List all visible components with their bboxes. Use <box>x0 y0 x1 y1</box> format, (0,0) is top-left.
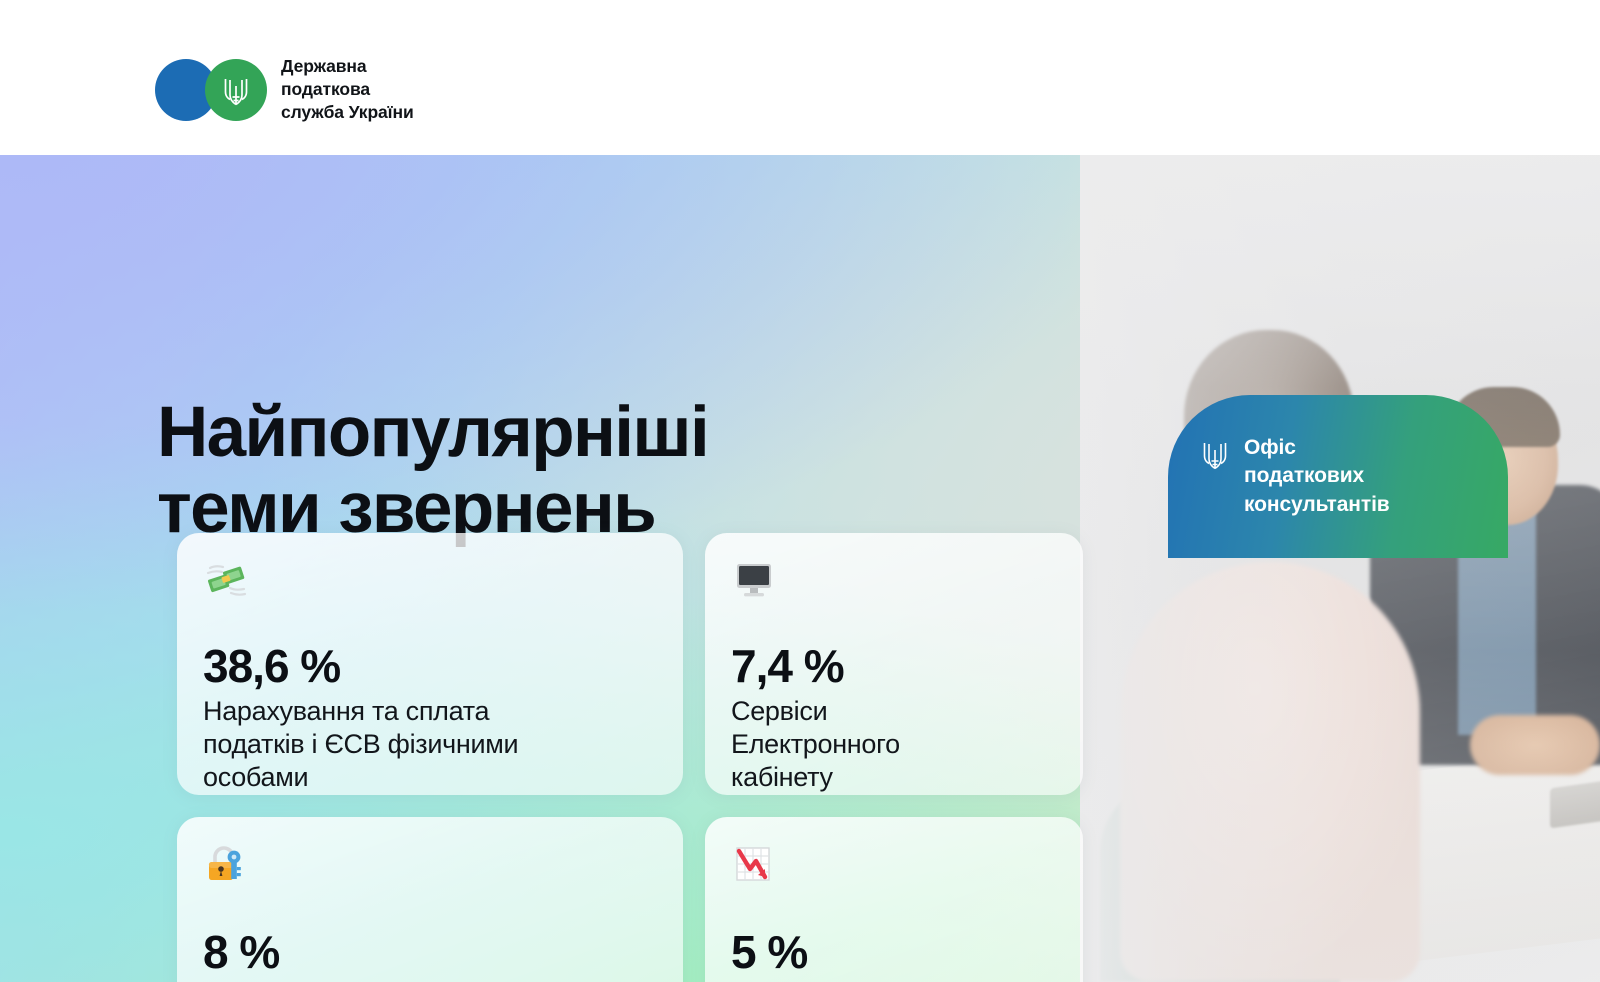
logo-marks <box>155 59 267 121</box>
consultation-photo <box>1080 155 1600 982</box>
stat-value: 8 % <box>203 929 657 975</box>
trident-icon <box>1202 438 1228 470</box>
photo-fade-overlay-vertical <box>1080 155 1600 982</box>
infographic-slide: Державна податкова служба України Найпоп… <box>0 0 1600 982</box>
stat-value: 5 % <box>731 929 1057 975</box>
green-circle-trident-icon <box>205 59 267 121</box>
stat-card: 8 % Електронні довірчі послуги <box>177 817 683 982</box>
stat-label: Нарахування та сплата податків і ЄСВ фіз… <box>203 695 657 794</box>
stat-card-grid: 38,6 % Нарахування та сплата податків і … <box>177 533 1083 982</box>
chart-decreasing-icon <box>731 841 1057 893</box>
stat-card: 38,6 % Нарахування та сплата податків і … <box>177 533 683 795</box>
locked-with-key-icon <box>203 841 657 893</box>
header-bar: Державна податкова служба України <box>0 0 1600 155</box>
organization-logo: Державна податкова служба України <box>155 55 414 124</box>
stat-value: 7,4 % <box>731 643 1057 689</box>
stat-value: 38,6 % <box>203 643 657 689</box>
stat-card: 5 % Податковий борг <box>705 817 1083 982</box>
desktop-computer-icon <box>731 557 1057 609</box>
office-badge: Офіс податкових консультантів <box>1168 395 1508 558</box>
hero-area: Найпопулярніші теми звернень Офіс податк… <box>0 155 1600 982</box>
badge-inner: Офіс податкових консультантів <box>1168 434 1390 519</box>
page-title: Найпопулярніші теми звернень <box>157 395 708 548</box>
stat-label: Сервіси Електронного кабінету <box>731 695 1057 794</box>
stat-card: 7,4 % Сервіси Електронного кабінету <box>705 533 1083 795</box>
money-with-wings-icon <box>203 557 657 609</box>
badge-label: Офіс податкових консультантів <box>1244 434 1390 519</box>
logo-text: Державна податкова служба України <box>281 55 414 124</box>
